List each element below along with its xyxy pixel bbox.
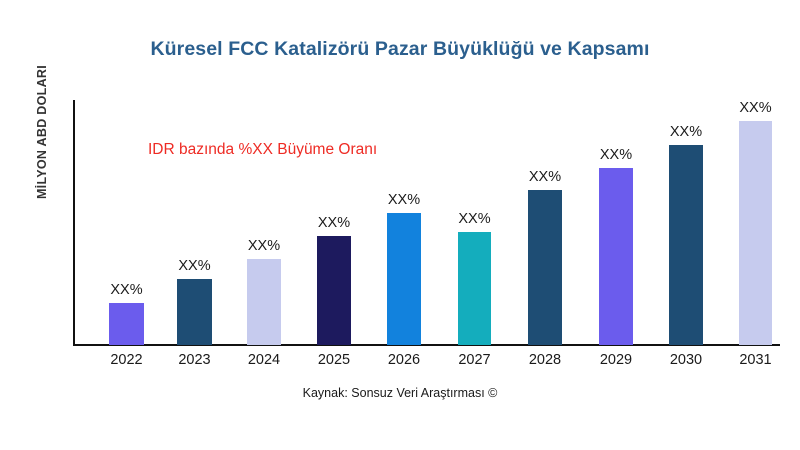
x-tick-2022: 2022 [110, 352, 142, 368]
bar-2025[interactable]: XX% [317, 236, 351, 345]
source-caption: Kaynak: Sonsuz Veri Araştırması © [0, 386, 800, 400]
bar-group: XX% [387, 100, 421, 345]
bar-value-label: XX% [670, 124, 702, 140]
x-tick-2031: 2031 [739, 352, 771, 368]
x-tick-2023: 2023 [178, 352, 210, 368]
y-axis-line [73, 100, 75, 345]
bar-value-label: XX% [600, 147, 632, 163]
y-axis-label: MİLYON ABD DOLARI [35, 12, 49, 252]
x-tick-2030: 2030 [670, 352, 702, 368]
x-tick-2026: 2026 [388, 352, 420, 368]
bar-value-label: XX% [318, 215, 350, 231]
x-tick-2028: 2028 [529, 352, 561, 368]
bar-2023[interactable]: XX% [177, 279, 212, 345]
bar-value-label: XX% [458, 211, 490, 227]
page-title: Küresel FCC Katalizörü Pazar Büyüklüğü v… [0, 38, 800, 61]
x-tick-2024: 2024 [248, 352, 280, 368]
bar-2022[interactable]: XX% [109, 303, 144, 345]
bar-value-label: XX% [529, 169, 561, 185]
bar-value-label: XX% [388, 192, 420, 208]
plot-area: XX%XX%XX%XX%XX%XX%XX%XX%XX%XX% 202220232… [73, 100, 780, 345]
bar-2024[interactable]: XX% [247, 259, 281, 345]
bar-value-label: XX% [178, 258, 210, 274]
bar-2030[interactable]: XX% [669, 145, 703, 345]
bar-value-label: XX% [110, 282, 142, 298]
bar-2028[interactable]: XX% [528, 190, 562, 345]
bar-2031[interactable]: XX% [739, 121, 772, 345]
bar-group: XX% [739, 100, 772, 345]
bar-value-label: XX% [739, 100, 771, 116]
x-tick-2029: 2029 [600, 352, 632, 368]
bar-group: XX% [317, 100, 351, 345]
bar-group: XX% [669, 100, 703, 345]
bar-group: XX% [599, 100, 633, 345]
bar-group: XX% [247, 100, 281, 345]
growth-rate-annotation: IDR bazında %XX Büyüme Oranı [148, 141, 377, 159]
bar-value-label: XX% [248, 238, 280, 254]
bar-2029[interactable]: XX% [599, 168, 633, 345]
x-tick-2027: 2027 [458, 352, 490, 368]
chart-screenshot: Küresel FCC Katalizörü Pazar Büyüklüğü v… [0, 0, 800, 450]
bar-2026[interactable]: XX% [387, 213, 421, 345]
bar-2027[interactable]: XX% [458, 232, 491, 345]
bar-group: XX% [177, 100, 212, 345]
bar-group: XX% [458, 100, 491, 345]
x-tick-2025: 2025 [318, 352, 350, 368]
bar-group: XX% [109, 100, 144, 345]
bar-group: XX% [528, 100, 562, 345]
